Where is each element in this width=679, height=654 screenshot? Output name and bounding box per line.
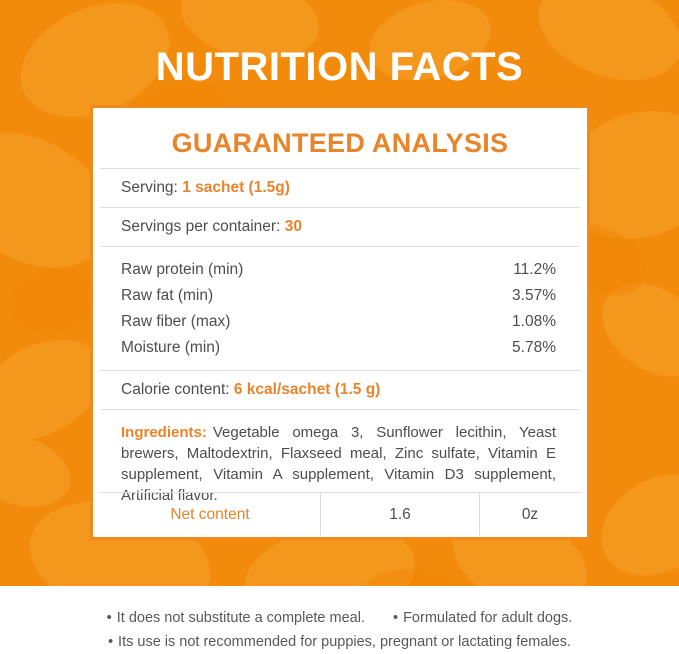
ingredients-label: Ingredients: <box>121 424 207 441</box>
nutrient-list: Raw protein (min) 11.2% Raw fat (min) 3.… <box>100 247 580 370</box>
nutrition-label-page: NUTRITION FACTS GUARANTEED ANALYSIS Serv… <box>0 0 679 653</box>
serving-value: 1 sachet (1.5g) <box>182 179 290 196</box>
nutrient-name: Raw protein (min) <box>121 259 243 281</box>
table-row: Raw protein (min) 11.2% <box>100 257 580 283</box>
nutrient-value: 11.2% <box>513 259 556 281</box>
card-heading: GUARANTEED ANALYSIS <box>93 126 587 160</box>
footer-note-text: Formulated for adult dogs. <box>403 610 572 626</box>
servings-per-container-row: Servings per container: 30 <box>100 208 580 246</box>
net-content-label: Net content <box>100 493 320 537</box>
bullet-icon: • <box>108 634 113 650</box>
page-title: NUTRITION FACTS <box>0 43 679 91</box>
footer-line-2: •Its use is not recommended for puppies,… <box>0 630 679 654</box>
footer-note: •Formulated for adult dogs. <box>393 606 572 630</box>
footer-note-text: Its use is not recommended for puppies, … <box>118 634 571 650</box>
card-inner: Serving: 1 sachet (1.5g) Servings per co… <box>100 168 580 537</box>
nutrient-name: Raw fat (min) <box>121 285 213 307</box>
nutrient-name: Raw fiber (max) <box>121 311 230 333</box>
table-row: Raw fiber (max) 1.08% <box>100 309 580 335</box>
footer-note-text: It does not substitute a complete meal. <box>117 610 365 626</box>
nutrient-name: Moisture (min) <box>121 337 220 359</box>
bullet-icon: • <box>393 610 398 626</box>
net-content-amount: 1.6 <box>320 493 480 537</box>
net-content-table: Net content 1.6 0z <box>100 492 580 537</box>
calorie-value: 6 kcal/sachet (1.5 g) <box>234 381 380 398</box>
calorie-label: Calorie content: <box>121 381 230 398</box>
nutrient-value: 1.08% <box>512 311 556 333</box>
nutrient-value: 5.78% <box>512 337 556 359</box>
table-row: Raw fat (min) 3.57% <box>100 283 580 309</box>
bullet-icon: • <box>107 610 112 626</box>
serving-row: Serving: 1 sachet (1.5g) <box>100 169 580 207</box>
servings-per-container-value: 30 <box>285 218 302 235</box>
serving-label: Serving: <box>121 179 178 196</box>
footer-note: •It does not substitute a complete meal. <box>107 606 365 630</box>
footer-notes: •It does not substitute a complete meal.… <box>0 586 679 653</box>
footer-note: •Its use is not recommended for puppies,… <box>108 630 571 654</box>
nutrition-card: GUARANTEED ANALYSIS Serving: 1 sachet (1… <box>90 105 590 540</box>
table-row: Moisture (min) 5.78% <box>100 335 580 361</box>
nutrient-value: 3.57% <box>512 285 556 307</box>
net-content-unit: 0z <box>480 493 580 537</box>
calorie-content-row: Calorie content: 6 kcal/sachet (1.5 g) <box>100 371 580 409</box>
servings-per-container-label: Servings per container: <box>121 218 280 235</box>
footer-line-1: •It does not substitute a complete meal.… <box>0 606 679 630</box>
